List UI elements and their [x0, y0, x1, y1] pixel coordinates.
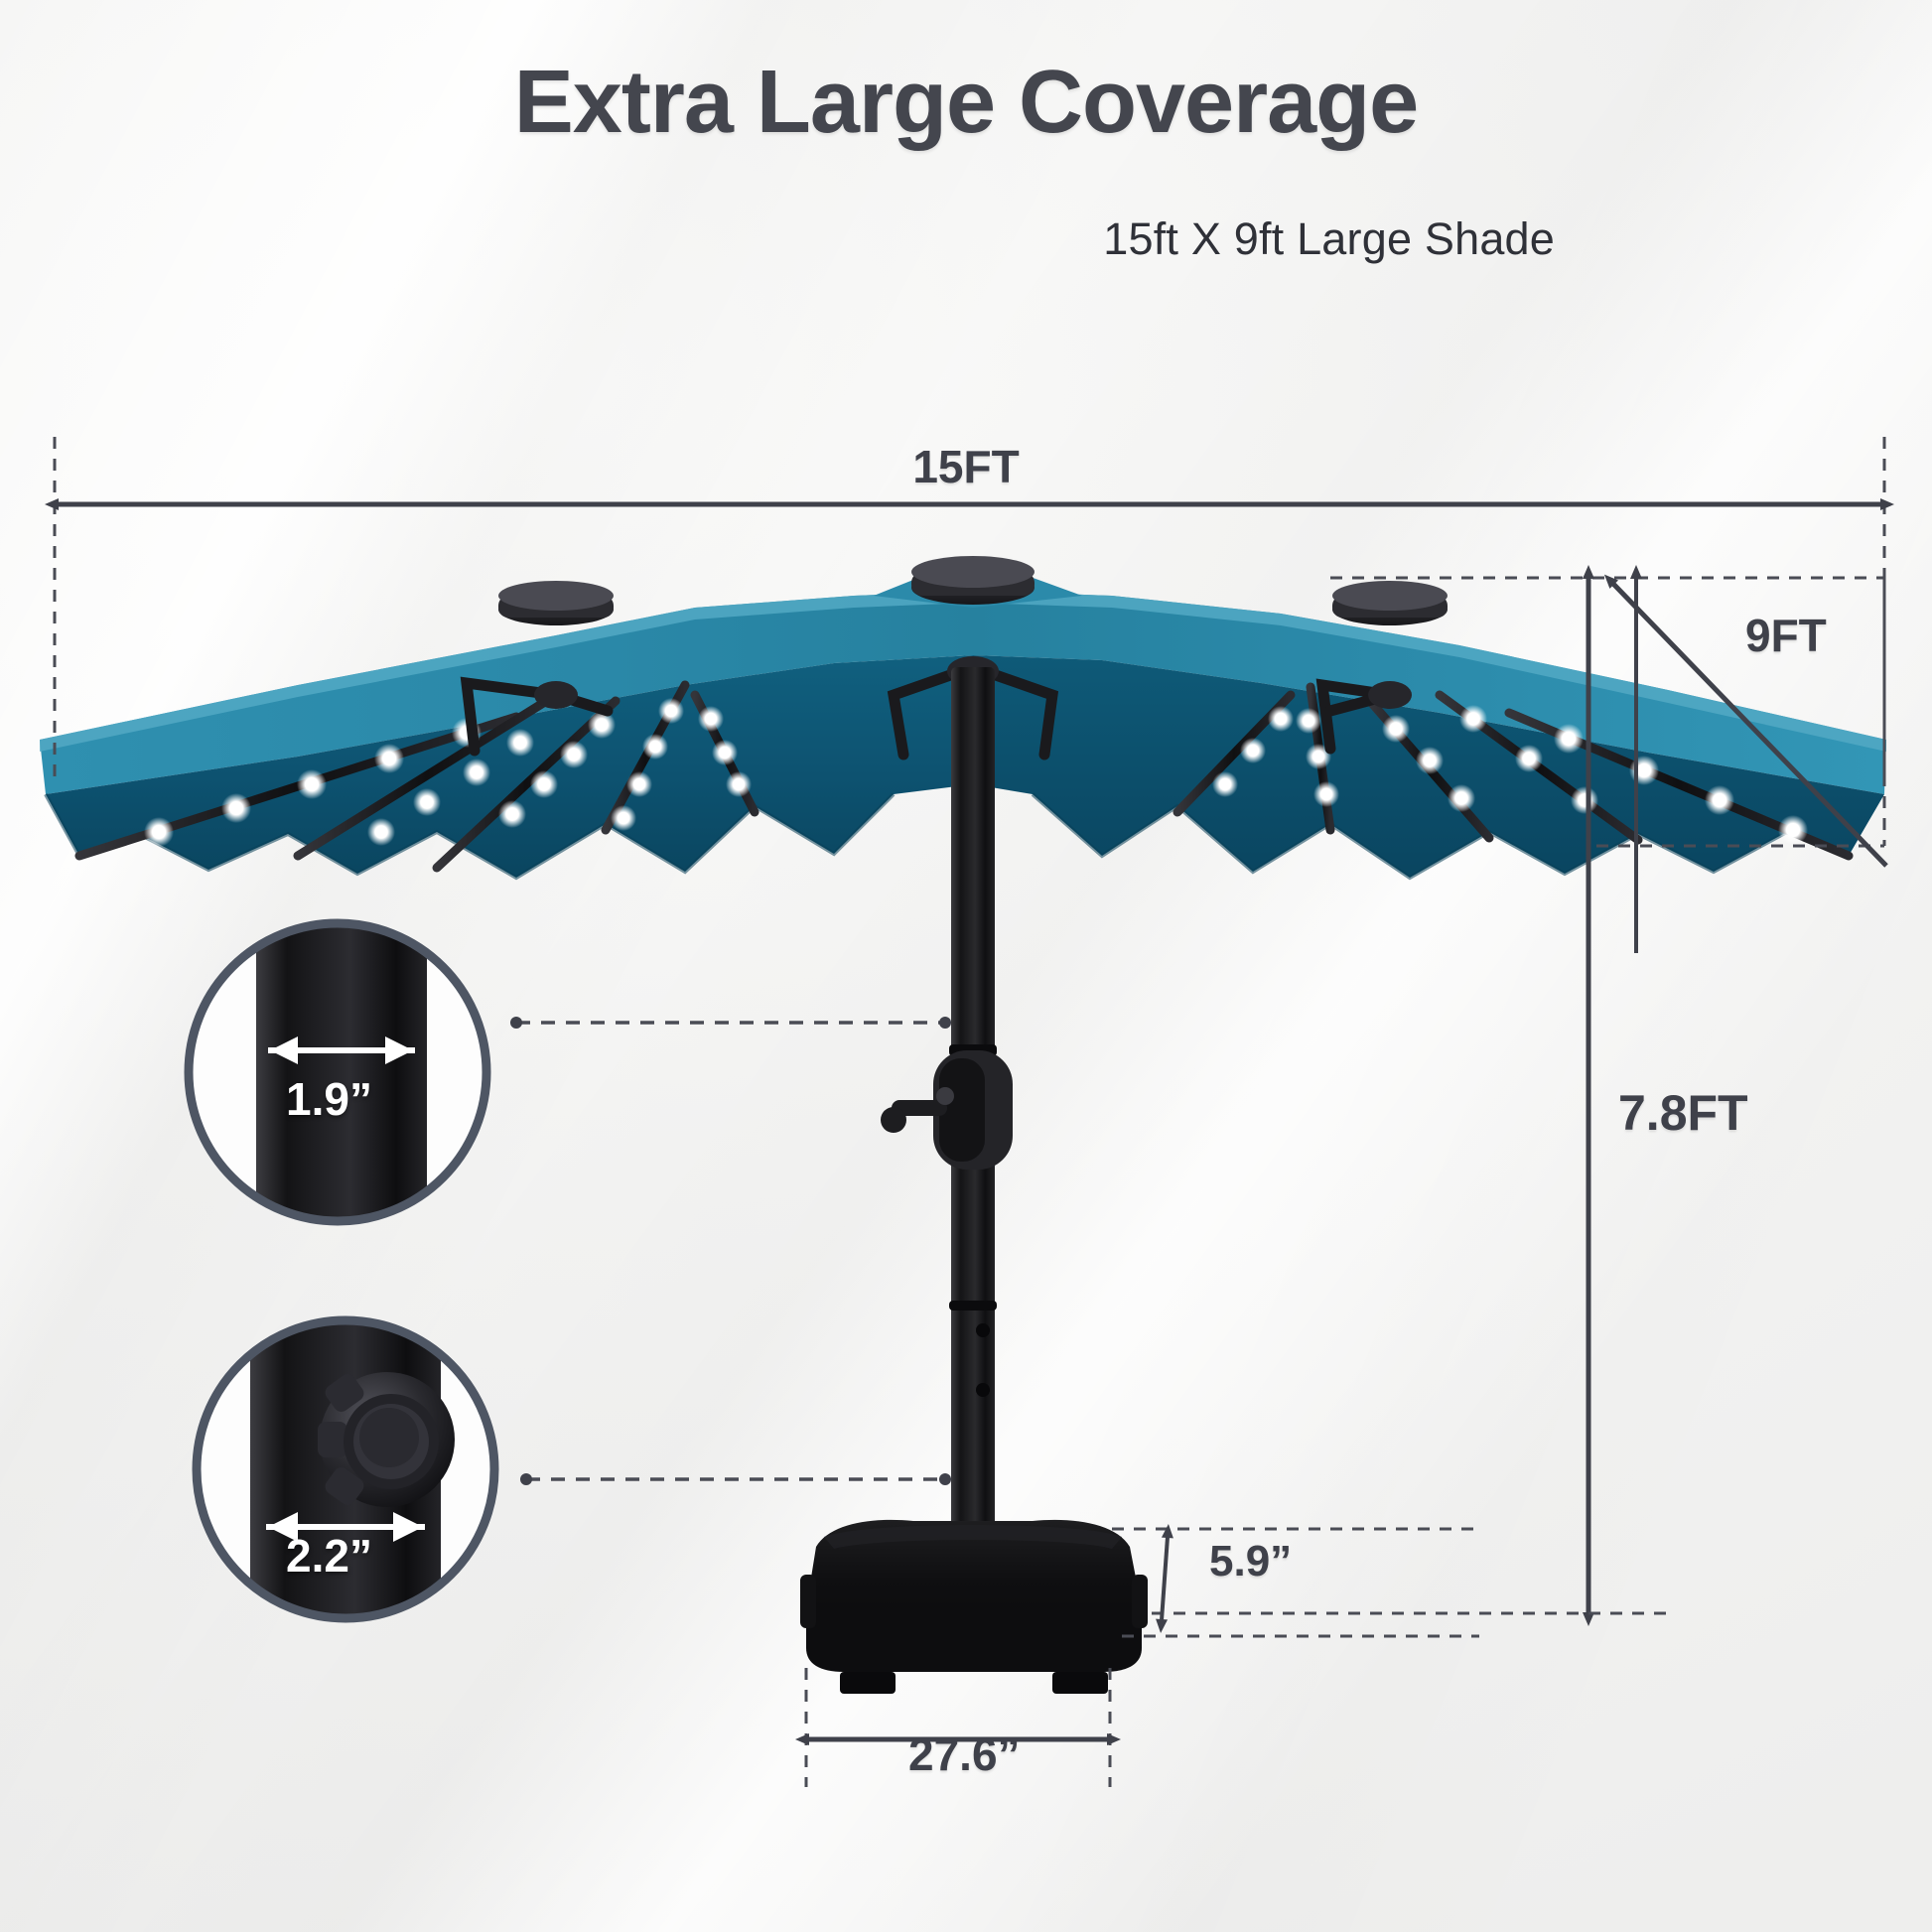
tightening-knob-icon [318, 1371, 455, 1508]
callout-label-1-9in: 1.9” [286, 1072, 372, 1126]
callout-lower-pole [197, 1291, 494, 1688]
dimension-label-27-6in: 27.6” [908, 1727, 1021, 1781]
dimension-label-15ft: 15FT [0, 440, 1932, 493]
dimension-label-7-8ft: 7.8FT [1618, 1084, 1748, 1142]
dimension-label-9ft: 9FT [1745, 609, 1827, 662]
callout-label-2-2in: 2.2” [286, 1529, 372, 1583]
detail-callouts [0, 0, 1932, 1932]
infographic-canvas: Extra Large Coverage 15ft X 9ft Large Sh… [0, 0, 1932, 1932]
dimension-label-5-9in: 5.9” [1209, 1537, 1292, 1587]
